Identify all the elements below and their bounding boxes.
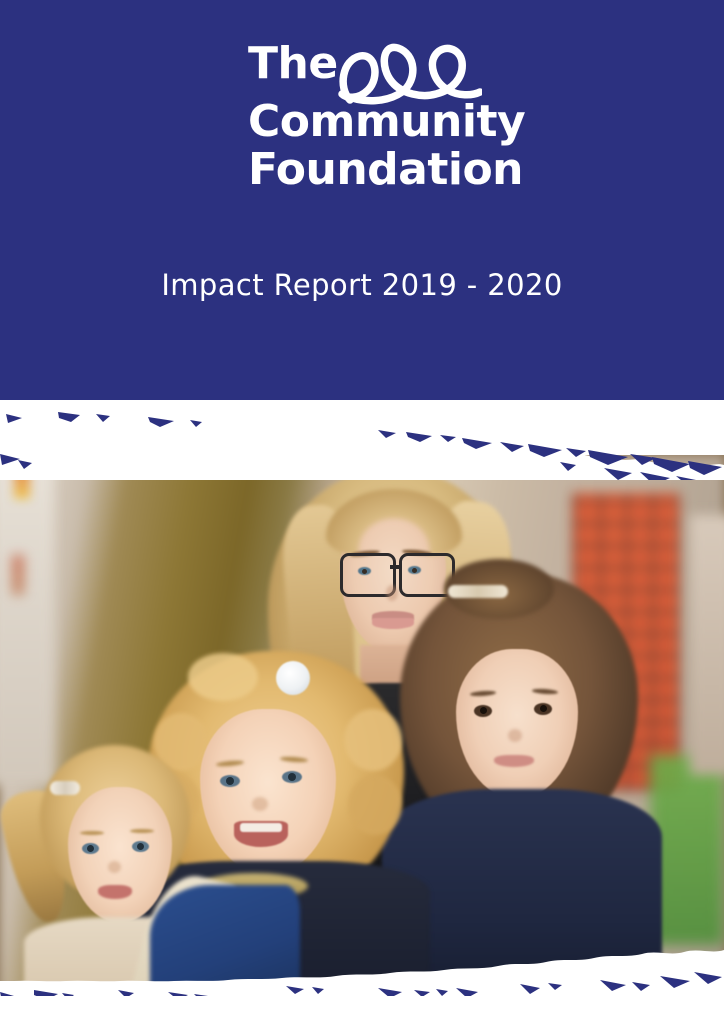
child-centre-curl-right-lower xyxy=(348,775,402,835)
child-centre-curl-top xyxy=(188,653,258,701)
child-centre-curl-right-upper xyxy=(344,709,402,771)
organisation-logo: The Community Foundation xyxy=(248,42,525,192)
child-right-hair-clip xyxy=(448,585,508,598)
child-left-eyebrow-right xyxy=(130,829,154,833)
photo-canvas xyxy=(0,455,724,1000)
child-left-nose xyxy=(108,861,121,873)
report-cover-page: The Community Foundation Impact Report 2… xyxy=(0,0,724,1024)
photo-background-right-board xyxy=(690,515,724,775)
blue-coat xyxy=(150,885,300,1000)
child-centre-pompom-hair-tie xyxy=(276,661,310,695)
page-bottom-margin xyxy=(0,996,724,1024)
subject-child-right xyxy=(400,573,660,1000)
child-left-eyebrow-left xyxy=(80,831,104,835)
child-right-pupil-right xyxy=(540,705,547,712)
child-left-pupil-right xyxy=(137,843,144,850)
child-left-pupil-left xyxy=(87,845,94,852)
photo-background-accent-a xyxy=(14,465,30,499)
eyeglass-bridge xyxy=(390,565,401,569)
child-centre-teeth xyxy=(240,823,282,832)
child-centre-pupil-right xyxy=(288,773,296,781)
child-left-face xyxy=(68,787,172,923)
child-centre-nose xyxy=(252,797,268,811)
child-right-pupil-left xyxy=(480,707,487,714)
cover-photograph xyxy=(0,455,724,1000)
child-right-mouth xyxy=(494,755,534,767)
woman-nose xyxy=(386,585,398,601)
child-left-mouth xyxy=(98,885,132,899)
photo-background-accent-b xyxy=(12,555,24,595)
photo-background-left-panel xyxy=(0,455,54,785)
child-centre-pupil-left xyxy=(226,777,234,785)
triple-loop-squiggle-icon xyxy=(336,38,482,110)
cover-subtitle: Impact Report 2019 - 2020 xyxy=(0,268,724,302)
child-left-hair-clip xyxy=(50,781,80,795)
child-right-nose xyxy=(508,729,522,742)
logo-line-foundation: Foundation xyxy=(248,148,525,192)
